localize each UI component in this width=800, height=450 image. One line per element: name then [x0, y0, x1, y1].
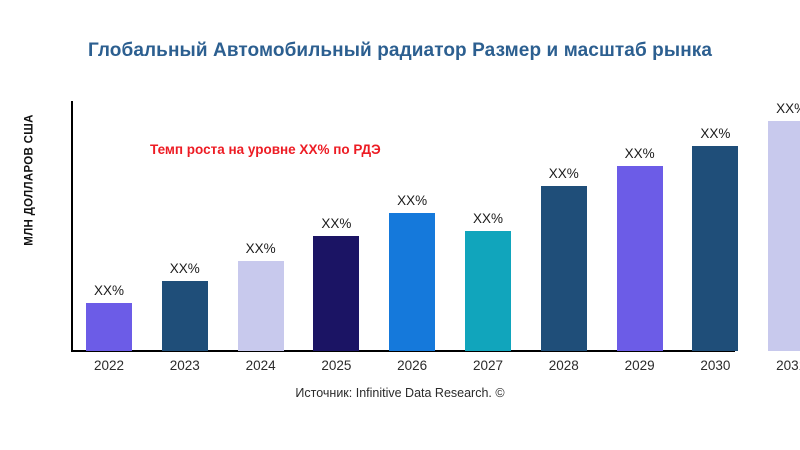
- bar-2024[interactable]: [238, 261, 284, 351]
- bar-value-label-2024: XX%: [227, 241, 295, 256]
- x-tick-2031: 2031: [757, 358, 800, 373]
- bar-2027[interactable]: [465, 231, 511, 351]
- bar-value-label-2022: XX%: [75, 283, 143, 298]
- bar-value-label-2030: XX%: [681, 126, 749, 141]
- bar-slot: XX%: [227, 101, 295, 351]
- bar-slot: XX%: [530, 101, 598, 351]
- x-tick-2026: 2026: [378, 358, 446, 373]
- bar-slot: XX%: [606, 101, 674, 351]
- bar-value-label-2031: XX%: [757, 101, 800, 116]
- bar-2029[interactable]: [617, 166, 663, 351]
- bar-2022[interactable]: [86, 303, 132, 351]
- x-tick-2024: 2024: [227, 358, 295, 373]
- bar-value-label-2028: XX%: [530, 166, 598, 181]
- bar-value-label-2023: XX%: [151, 261, 219, 276]
- x-tick-2023: 2023: [151, 358, 219, 373]
- plot-area: XX%XX%XX%XX%XX%XX%XX%XX%XX%XX%: [71, 101, 735, 351]
- bar-value-label-2029: XX%: [606, 146, 674, 161]
- bar-slot: XX%: [757, 101, 800, 351]
- x-tick-2027: 2027: [454, 358, 522, 373]
- bar-2028[interactable]: [541, 186, 587, 351]
- x-tick-2022: 2022: [75, 358, 143, 373]
- x-tick-2028: 2028: [530, 358, 598, 373]
- y-axis-label: МЛН ДОЛЛАРОВ США: [24, 114, 36, 245]
- bar-slot: XX%: [302, 101, 370, 351]
- x-tick-2030: 2030: [681, 358, 749, 373]
- bar-slot: XX%: [151, 101, 219, 351]
- chart-container: Глобальный Автомобильный радиатор Размер…: [0, 0, 800, 450]
- bar-value-label-2026: XX%: [378, 193, 446, 208]
- bar-value-label-2025: XX%: [302, 216, 370, 231]
- bar-slot: XX%: [454, 101, 522, 351]
- chart-title: Глобальный Автомобильный радиатор Размер…: [0, 40, 800, 62]
- x-tick-2025: 2025: [302, 358, 370, 373]
- y-axis-label-wrapper: МЛН ДОЛЛАРОВ США: [0, 0, 60, 360]
- bar-2030[interactable]: [692, 146, 738, 351]
- growth-rate-annotation: Темп роста на уровне XX% по РДЭ: [150, 142, 381, 157]
- bar-value-label-2027: XX%: [454, 211, 522, 226]
- bar-2026[interactable]: [389, 213, 435, 351]
- bar-slot: XX%: [681, 101, 749, 351]
- bar-slot: XX%: [75, 101, 143, 351]
- bar-2023[interactable]: [162, 281, 208, 351]
- bar-2025[interactable]: [313, 236, 359, 351]
- x-tick-2029: 2029: [606, 358, 674, 373]
- bar-2031[interactable]: [768, 121, 800, 351]
- source-note: Источник: Infinitive Data Research. ©: [0, 386, 800, 400]
- bar-slot: XX%: [378, 101, 446, 351]
